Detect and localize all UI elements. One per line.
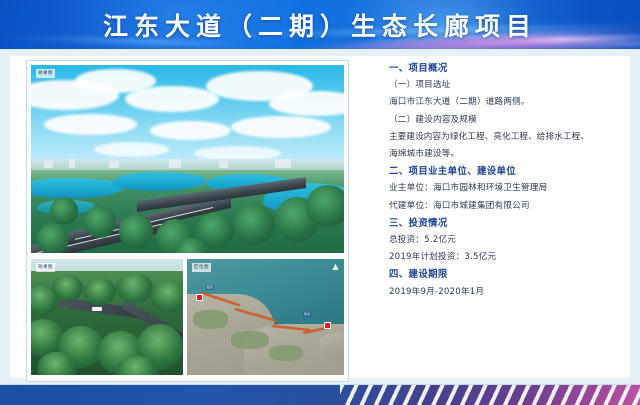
tree <box>84 206 115 238</box>
section-overview: 一、项目概况 （一）项目选址 海口市江东大道（二期）道路两侧。 （二）建设内容及… <box>389 60 633 163</box>
section-line: 主要建设内容为绿化工程、亮化工程、给排水工程、 <box>389 129 633 146</box>
section-line: 海绵城市建设等。 <box>389 146 633 163</box>
palm-tree <box>116 356 159 375</box>
section-investment: 三、投资情况 总投资：5.2亿元 2019年计划投资：3.5亿元 <box>389 215 633 267</box>
page-title: 江东大道（二期）生态长廊项目 <box>0 0 640 49</box>
route-end-marker <box>324 322 331 329</box>
footer-bar <box>0 385 640 405</box>
cloud <box>125 86 219 112</box>
section-line: 总投资：5.2亿元 <box>389 232 633 249</box>
section-owner-builder: 二、项目业主单位、建设单位 业主单位：海口市园林和环境卫生管理局 代建单位：海口… <box>389 163 633 215</box>
tree <box>306 185 344 226</box>
tree <box>37 223 68 253</box>
location-map-label: 区位图 <box>192 263 211 272</box>
skyline-building <box>44 161 53 169</box>
footer-stripe-pattern <box>340 385 640 405</box>
skyline-building <box>219 161 228 169</box>
skyline-building <box>109 161 118 169</box>
section-heading: 一、项目概况 <box>389 60 633 77</box>
skyline-building <box>169 159 182 168</box>
section-heading: 三、投资情况 <box>389 215 633 232</box>
main-rendering-label: 效果图 <box>36 69 55 78</box>
section-heading: 二、项目业主单位、建设单位 <box>389 163 633 180</box>
main-rendering-image: 效果图 <box>31 65 344 253</box>
cloud <box>94 142 169 157</box>
section-line: 2019年计划投资：3.5亿元 <box>389 249 633 266</box>
site-photo-image: 效果图 <box>31 259 183 375</box>
section-heading: 四、建设期限 <box>389 266 633 283</box>
vegetation-area <box>269 345 304 361</box>
palm-tree <box>37 352 77 375</box>
route-start-label: 起点 <box>206 285 214 290</box>
section-line: 业主单位：海口市园林和环境卫生管理局 <box>389 180 633 197</box>
image-panel: 效果图 效果图 <box>26 60 349 382</box>
north-arrow-icon: ▲ <box>331 263 340 276</box>
section-line: 代建单位：海口市城建集团有限公司 <box>389 198 633 215</box>
project-info-text: 一、项目概况 （一）项目选址 海口市江东大道（二期）道路两侧。 （二）建设内容及… <box>389 60 633 301</box>
tree <box>119 214 153 250</box>
poster-canvas: 江东大道（二期）生态长廊项目 <box>0 0 640 405</box>
tree <box>50 197 78 225</box>
section-line: （二）建设内容及规模 <box>389 112 633 129</box>
section-line: 2019年9月-2020年1月 <box>389 284 633 301</box>
skyline-building <box>69 159 75 168</box>
skyline-building <box>275 159 291 168</box>
landmass <box>319 333 344 361</box>
palm-tree <box>52 275 82 301</box>
route-end-label: 终点 <box>303 312 311 317</box>
cloud <box>44 114 138 135</box>
section-line: 海口市江东大道（二期）道路两侧。 <box>389 94 633 111</box>
palm-tree <box>116 273 152 303</box>
route-start-marker <box>196 294 203 301</box>
car <box>92 307 103 312</box>
section-line: （一）项目选址 <box>389 77 633 94</box>
vegetation-area <box>193 310 228 329</box>
header-banner: 江东大道（二期）生态长廊项目 <box>0 0 640 49</box>
location-map-image: 起点 终点 ▲ 区位图 <box>187 259 344 375</box>
vegetation-area <box>231 331 269 350</box>
section-schedule: 四、建设期限 2019年9月-2020年1月 <box>389 266 633 300</box>
site-photo-label: 效果图 <box>36 263 55 272</box>
